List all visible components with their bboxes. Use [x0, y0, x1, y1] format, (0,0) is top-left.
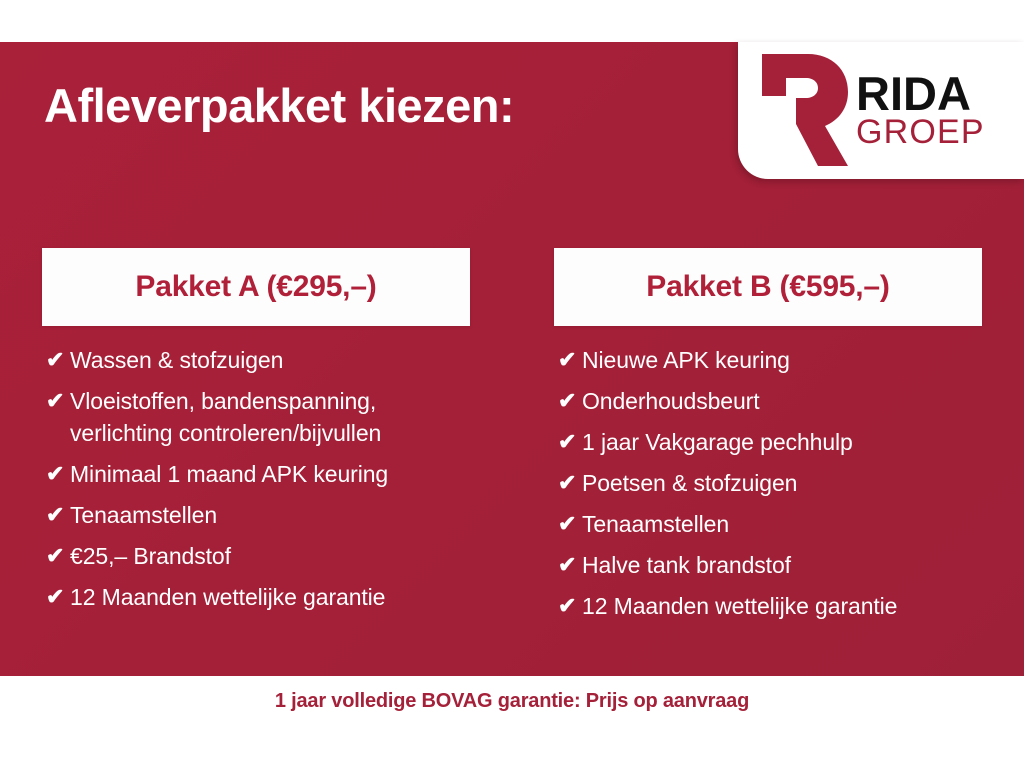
- rida-r-mark-icon: [756, 52, 848, 168]
- list-item: ✔ 1 jaar Vakgarage pechhulp: [554, 426, 982, 458]
- list-item-label: Halve tank brandstof: [582, 552, 791, 578]
- package-b-title: Pakket B (€595,–): [646, 270, 889, 304]
- list-item: ✔ Tenaamstellen: [554, 508, 982, 540]
- check-icon: ✔: [554, 549, 582, 581]
- check-icon: ✔: [42, 540, 70, 572]
- list-item-label: Poetsen & stofzuigen: [582, 470, 797, 496]
- package-column-b: Pakket B (€595,–) ✔ Nieuwe APK keuring ✔…: [554, 248, 982, 631]
- check-icon: ✔: [554, 467, 582, 499]
- list-item: ✔ €25,– Brandstof: [42, 540, 470, 572]
- list-item-label: Tenaamstellen: [70, 502, 217, 528]
- check-icon: ✔: [554, 344, 582, 376]
- check-icon: ✔: [554, 385, 582, 417]
- check-icon: ✔: [42, 581, 70, 613]
- list-item: ✔ Halve tank brandstof: [554, 549, 982, 581]
- list-item-label: Tenaamstellen: [582, 511, 729, 537]
- logo-brand-text: RIDA: [856, 72, 985, 115]
- logo-inner: RIDA GROEP: [738, 42, 1024, 179]
- list-item-label: Minimaal 1 maand APK keuring: [70, 461, 388, 487]
- check-icon: ✔: [554, 508, 582, 540]
- check-icon: ✔: [42, 499, 70, 531]
- check-icon: ✔: [42, 344, 70, 376]
- list-item: ✔ Minimaal 1 maand APK keuring: [42, 458, 470, 490]
- package-b-header: Pakket B (€595,–): [554, 248, 982, 326]
- check-icon: ✔: [42, 385, 70, 417]
- check-icon: ✔: [554, 426, 582, 458]
- logo-wordmark: RIDA GROEP: [856, 72, 985, 149]
- logo-subbrand-text: GROEP: [856, 117, 985, 148]
- logo-plate: RIDA GROEP: [738, 42, 1024, 179]
- list-item-label: Nieuwe APK keuring: [582, 347, 790, 373]
- package-a-feature-list: ✔ Wassen & stofzuigen ✔ Vloeistoffen, ba…: [42, 326, 470, 613]
- list-item: ✔ 12 Maanden wettelijke garantie: [554, 590, 982, 622]
- list-item: ✔ Nieuwe APK keuring: [554, 344, 982, 376]
- list-item-label: 1 jaar Vakgarage pechhulp: [582, 429, 853, 455]
- check-icon: ✔: [42, 458, 70, 490]
- list-item: ✔ Tenaamstellen: [42, 499, 470, 531]
- package-column-a: Pakket A (€295,–) ✔ Wassen & stofzuigen …: [42, 248, 470, 622]
- page-title: Afleverpakket kiezen:: [44, 80, 514, 132]
- slide-root: Afleverpakket kiezen: RIDA GROEP Pakket …: [0, 0, 1024, 768]
- list-item: ✔ Vloeistoffen, bandenspanning, verlicht…: [42, 385, 470, 449]
- list-item-label: 12 Maanden wettelijke garantie: [70, 584, 385, 610]
- package-a-header: Pakket A (€295,–): [42, 248, 470, 326]
- list-item-label: Vloeistoffen, bandenspanning,: [70, 388, 376, 414]
- list-item: ✔ Onderhoudsbeurt: [554, 385, 982, 417]
- list-item: ✔ Poetsen & stofzuigen: [554, 467, 982, 499]
- footer-band: 1 jaar volledige BOVAG garantie: Prijs o…: [0, 676, 1024, 768]
- check-icon: ✔: [554, 590, 582, 622]
- list-item: ✔ 12 Maanden wettelijke garantie: [42, 581, 470, 613]
- package-b-feature-list: ✔ Nieuwe APK keuring ✔ Onderhoudsbeurt ✔…: [554, 326, 982, 622]
- list-item-label: Onderhoudsbeurt: [582, 388, 760, 414]
- list-item-label: Wassen & stofzuigen: [70, 347, 283, 373]
- footer-note: 1 jaar volledige BOVAG garantie: Prijs o…: [0, 690, 1024, 713]
- list-item: ✔ Wassen & stofzuigen: [42, 344, 470, 376]
- package-a-title: Pakket A (€295,–): [135, 270, 376, 304]
- list-item-label: €25,– Brandstof: [70, 543, 231, 569]
- list-item-label: 12 Maanden wettelijke garantie: [582, 593, 897, 619]
- list-item-label-continued: verlichting controleren/bijvullen: [70, 417, 381, 449]
